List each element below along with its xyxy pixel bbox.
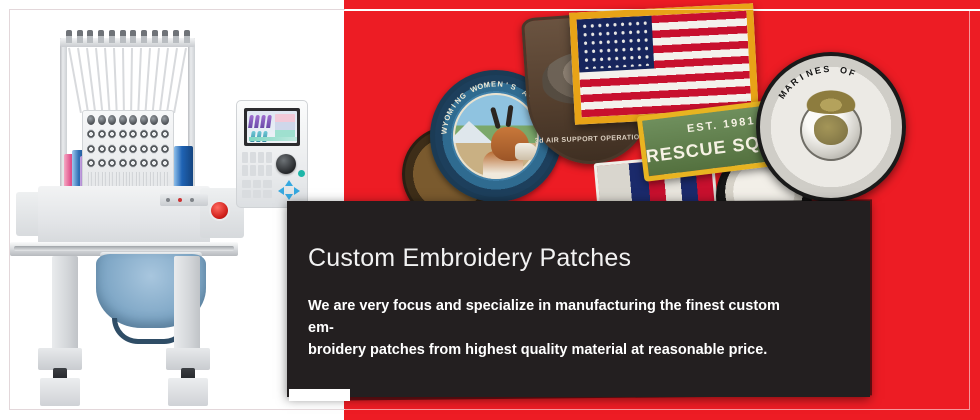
jog-dial[interactable]: [276, 154, 296, 174]
machine-side-panel: [160, 194, 208, 206]
page-subcopy-line-2: broidery patches from highest quality ma…: [308, 339, 808, 361]
arrow-up-icon: [285, 180, 293, 186]
machine-base-left: [40, 378, 80, 406]
rescue-patch-est-text: EST. 1981: [686, 115, 756, 135]
arrow-left-icon: [278, 187, 284, 195]
marines-patch: MARINES OF: [756, 52, 906, 202]
flag-canton: [577, 16, 654, 73]
machine-rail-track: [14, 246, 234, 251]
operator-control-panel[interactable]: [236, 100, 308, 208]
tension-disc-row-2: [87, 129, 169, 141]
page-title: Custom Embroidery Patches: [308, 245, 844, 273]
patches-collage: WYOMING WOMEN'S ANTELOPE 3d AIR SUPPORT …: [420, 8, 920, 216]
eagle-icon: [796, 84, 866, 114]
start-button[interactable]: [298, 170, 305, 177]
overlay-text-panel: Custom Embroidery Patches We are very fo…: [287, 201, 870, 397]
control-panel-lcd: [247, 111, 297, 143]
thread-wires: [64, 48, 192, 114]
overlay-bottom-notch: [289, 389, 350, 401]
flag-stars: [581, 19, 649, 69]
antelope-patch-scene: [453, 93, 539, 179]
tension-disc-row-1: [87, 115, 169, 127]
machine-leg-right: [174, 256, 200, 350]
control-panel-keypad-bottom[interactable]: [242, 180, 272, 198]
machine-leg-left: [52, 256, 78, 350]
machine-foot-right: [166, 348, 210, 370]
page-subcopy: We are very focus and specialize in manu…: [308, 295, 808, 362]
arrow-right-icon: [294, 187, 300, 195]
control-panel-keypad-top[interactable]: [242, 152, 272, 176]
air-force-patch-text: 3d AIR SUPPORT OPERATIONS: [532, 134, 652, 145]
tension-disc-row-3: [87, 144, 169, 156]
machine-base-right: [168, 378, 208, 406]
tension-disc-row-4: [87, 158, 169, 170]
control-panel-screen-bezel: [244, 108, 300, 146]
emergency-stop-button[interactable]: [211, 202, 228, 219]
thread-guide-posts: [66, 30, 190, 43]
machine-foot-left: [38, 348, 82, 370]
direction-pad[interactable]: [278, 180, 300, 200]
arrow-down-icon: [285, 194, 293, 200]
hero-banner: WYOMING WOMEN'S ANTELOPE 3d AIR SUPPORT …: [0, 0, 980, 420]
page-subcopy-line-1: We are very focus and specialize in manu…: [308, 295, 808, 340]
